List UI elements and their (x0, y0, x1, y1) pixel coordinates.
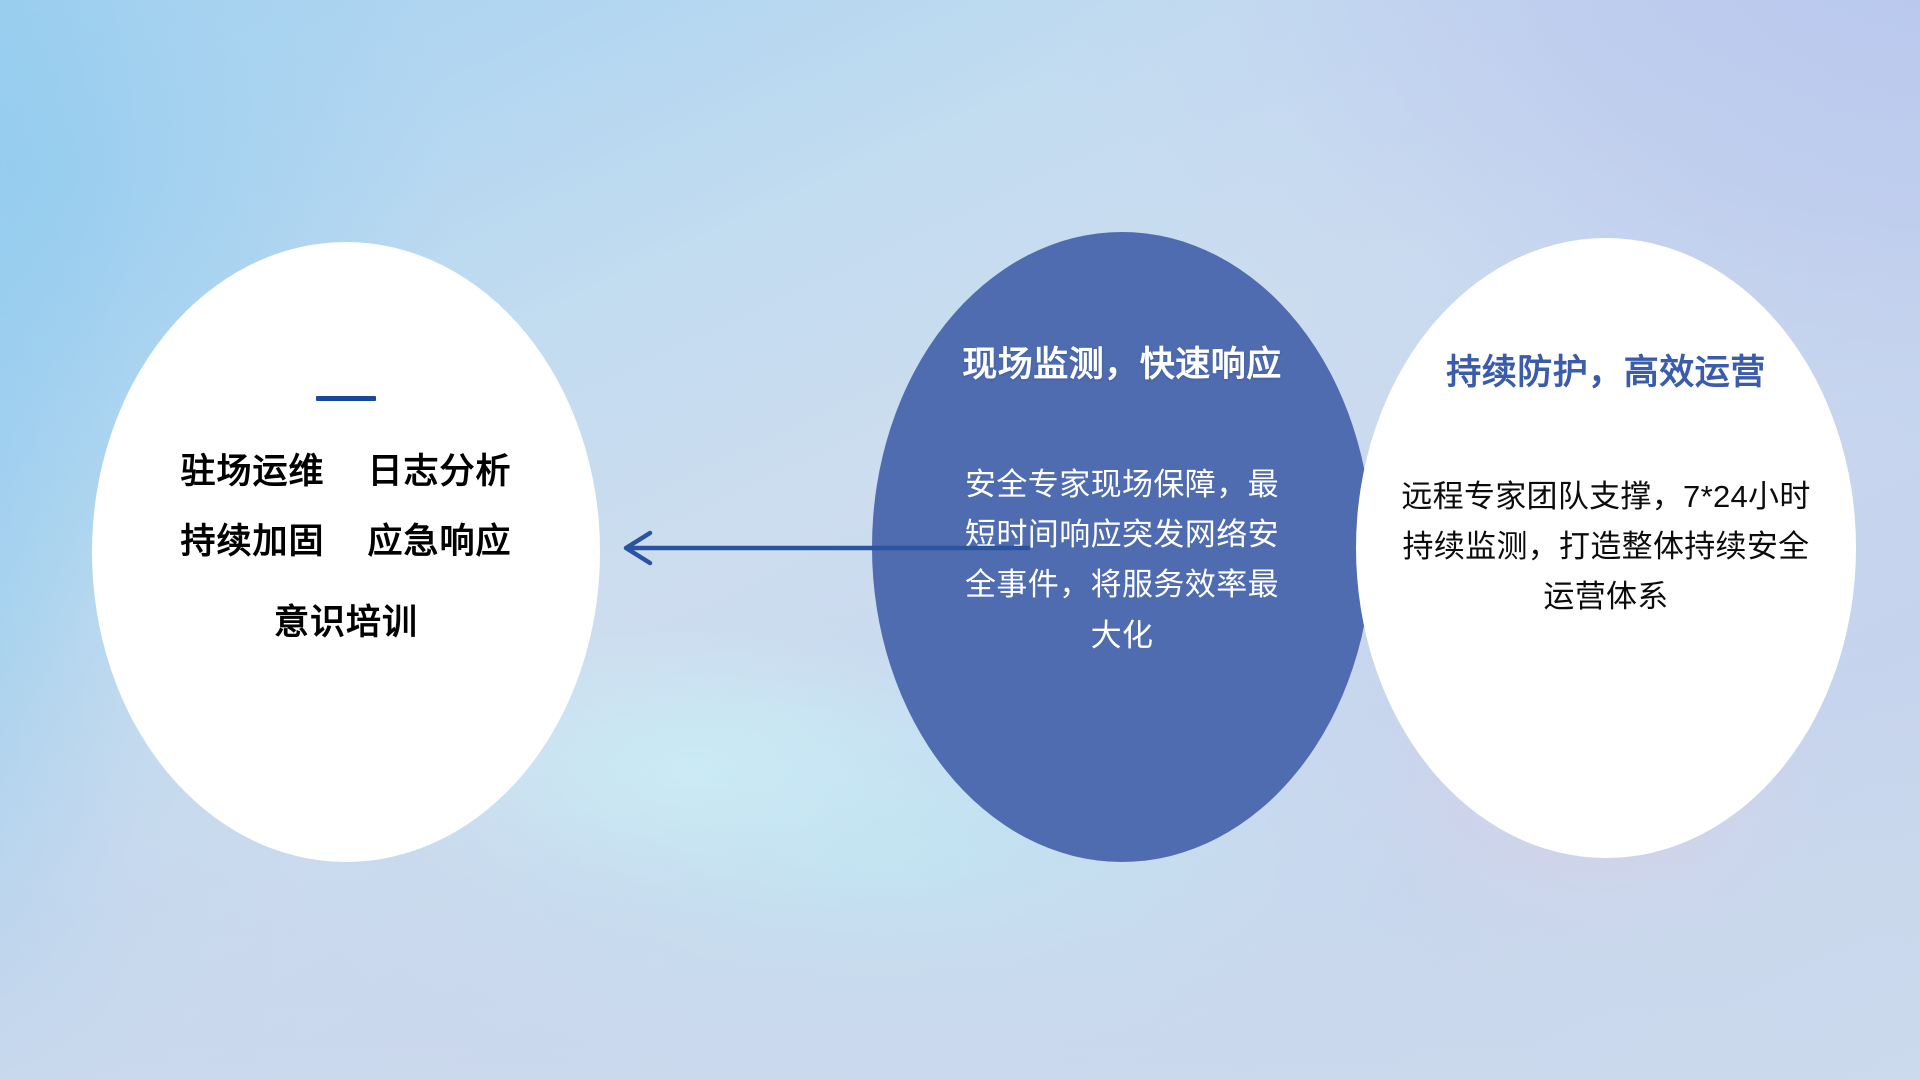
divider-bar (316, 396, 376, 401)
slide-canvas: 驻场运维 日志分析 持续加固 应急响应 意识培训 现场监测，快速响应 安全专家现… (0, 0, 1920, 1080)
capability-line-2: 持续加固 应急响应 (181, 523, 512, 562)
continuous-protection-body: 远程专家团队支撑，7*24小时持续监测，打造整体持续安全运营体系 (1396, 472, 1816, 623)
continuous-protection-circle[interactable]: 持续防护，高效运营 远程专家团队支撑，7*24小时持续监测，打造整体持续安全运营… (1356, 238, 1856, 858)
continuous-protection-title: 持续防护，高效运营 (1446, 352, 1766, 394)
mid-circle-content: 现场监测，快速响应 安全专家现场保障，最短时间响应突发网络安全事件，将服务效率最… (872, 344, 1372, 661)
arrow-left-icon (600, 520, 1030, 576)
capability-line-1: 驻场运维 日志分析 (181, 453, 512, 492)
right-circle-content: 持续防护，高效运营 远程专家团队支撑，7*24小时持续监测，打造整体持续安全运营… (1356, 352, 1856, 623)
capability-line-3: 意识培训 (274, 604, 418, 643)
left-circle-content: 驻场运维 日志分析 持续加固 应急响应 意识培训 (92, 396, 600, 643)
service-capabilities-circle[interactable]: 驻场运维 日志分析 持续加固 应急响应 意识培训 (92, 242, 600, 862)
onsite-monitoring-title: 现场监测，快速响应 (962, 344, 1282, 386)
